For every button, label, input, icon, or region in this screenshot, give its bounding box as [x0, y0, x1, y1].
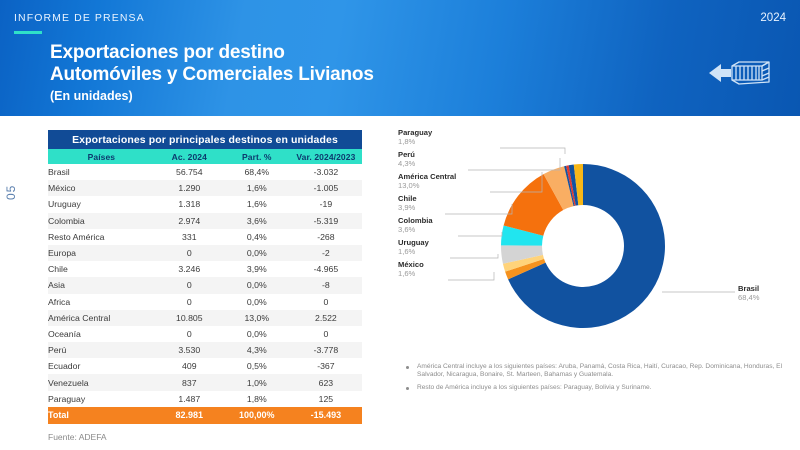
cell-country: Brasil [48, 164, 155, 180]
cell-var: -1.005 [290, 180, 362, 196]
table-row: Colombia2.9743,6%-5.319 [48, 213, 362, 229]
table-row: Ecuador4090,5%-367 [48, 358, 362, 374]
cell-part-pct: 0,0% [224, 294, 290, 310]
cell-country: Europa [48, 245, 155, 261]
cell-country: Paraguay [48, 391, 155, 407]
cell-ac-2024: 0 [155, 326, 224, 342]
cell-ac-2024: 0 [155, 277, 224, 293]
leader-line [458, 232, 502, 236]
column-header-ac-2024: Ac. 2024 [155, 149, 224, 164]
table-title-row: Exportaciones por principales destinos e… [48, 130, 362, 149]
footnote-item: Resto de América incluye a los siguiente… [404, 384, 794, 392]
cell-ac-2024: 1.318 [155, 196, 224, 212]
leader-line [450, 254, 498, 258]
cell-country: Africa [48, 294, 155, 310]
leader-line [448, 272, 494, 280]
chart-label-percent: 3,6% [398, 225, 433, 234]
chart-label-percent: 1,6% [398, 269, 424, 278]
cell-ac-2024: 331 [155, 229, 224, 245]
cell-part-pct: 1,6% [224, 180, 290, 196]
page-number: 05 [4, 185, 18, 200]
chart-footnotes: América Central incluye a los siguientes… [404, 363, 794, 396]
total-label: Total [48, 407, 155, 424]
table-row: Brasil56.75468,4%-3.032 [48, 164, 362, 180]
footnote-text: América Central incluye a los siguientes… [417, 363, 794, 380]
table-row: Asia00,0%-8 [48, 277, 362, 293]
cell-part-pct: 1,8% [224, 391, 290, 407]
cell-part-pct: 0,4% [224, 229, 290, 245]
cell-var: -3.778 [290, 342, 362, 358]
cell-country: México [48, 180, 155, 196]
donut-chart-svg [390, 132, 800, 362]
cell-ac-2024: 3.246 [155, 261, 224, 277]
cell-var: -2 [290, 245, 362, 261]
table-row: Africa00,0%0 [48, 294, 362, 310]
title-line-1: Exportaciones por destino [50, 42, 374, 64]
cell-var: -5.319 [290, 213, 362, 229]
cell-part-pct: 0,5% [224, 358, 290, 374]
cell-ac-2024: 0 [155, 245, 224, 261]
column-header-var: Var. 2024/2023 [290, 149, 362, 164]
cell-var: -4.965 [290, 261, 362, 277]
chart-label-name: Paraguay [398, 128, 432, 137]
cell-part-pct: 13,0% [224, 310, 290, 326]
cell-ac-2024: 1.290 [155, 180, 224, 196]
table-total-row: Total 82.981 100,00% -15.493 [48, 407, 362, 424]
cell-var: -19 [290, 196, 362, 212]
footnote-item: América Central incluye a los siguientes… [404, 363, 794, 380]
cell-ac-2024: 837 [155, 374, 224, 390]
cell-ac-2024: 409 [155, 358, 224, 374]
cell-country: Colombia [48, 213, 155, 229]
cell-part-pct: 4,3% [224, 342, 290, 358]
report-year: 2024 [760, 12, 786, 24]
cell-var: -367 [290, 358, 362, 374]
cell-var: -8 [290, 277, 362, 293]
chart-label-name: Chile [398, 194, 417, 203]
table-body: Brasil56.75468,4%-3.032México1.2901,6%-1… [48, 164, 362, 407]
cell-ac-2024: 2.974 [155, 213, 224, 229]
table-row: Uruguay1.3181,6%-19 [48, 196, 362, 212]
cell-ac-2024: 1.487 [155, 391, 224, 407]
title-subtitle: (En unidades) [50, 89, 374, 103]
cell-country: Chile [48, 261, 155, 277]
chart-label-américa-central: América Central13,0% [398, 172, 456, 190]
exports-donut-chart: Paraguay1,8%Perú4,3%América Central13,0%… [390, 132, 800, 362]
cell-var: 623 [290, 374, 362, 390]
leader-line [500, 148, 565, 154]
chart-label-name: América Central [398, 172, 456, 181]
cell-part-pct: 1,6% [224, 196, 290, 212]
chart-label-percent: 13,0% [398, 181, 456, 190]
cell-var: 2.522 [290, 310, 362, 326]
footnote-text: Resto de América incluye a los siguiente… [417, 384, 794, 392]
leader-line [468, 158, 560, 170]
table-row: México1.2901,6%-1.005 [48, 180, 362, 196]
cell-part-pct: 3,9% [224, 261, 290, 277]
cell-var: 0 [290, 326, 362, 342]
chart-label-percent: 68,4% [738, 293, 760, 302]
chart-label-colombia: Colombia3,6% [398, 216, 433, 234]
cell-country: Asia [48, 277, 155, 293]
cell-country: Venezuela [48, 374, 155, 390]
chart-label-name: Brasil [738, 284, 760, 293]
leader-line [445, 204, 512, 214]
table-row: Paraguay1.4871,8%125 [48, 391, 362, 407]
cell-part-pct: 0,0% [224, 326, 290, 342]
table-source: Fuente: ADEFA [48, 432, 107, 442]
table-row: Europa00,0%-2 [48, 245, 362, 261]
table-row: Venezuela8371,0%623 [48, 374, 362, 390]
exports-by-destination-table: Exportaciones por principales destinos e… [48, 130, 362, 424]
page-title: Exportaciones por destino Automóviles y … [50, 42, 374, 103]
chart-label-chile: Chile3,9% [398, 194, 417, 212]
cell-var: -268 [290, 229, 362, 245]
cell-country: América Central [48, 310, 155, 326]
table-column-header-row: Países Ac. 2024 Part. % Var. 2024/2023 [48, 149, 362, 164]
chart-label-name: Colombia [398, 216, 433, 225]
column-header-part-pct: Part. % [224, 149, 290, 164]
chart-label-percent: 3,9% [398, 203, 417, 212]
cell-country: Oceanía [48, 326, 155, 342]
report-kicker: INFORME DE PRENSA [14, 12, 145, 24]
donut-slices [501, 164, 665, 328]
cell-ac-2024: 56.754 [155, 164, 224, 180]
kicker-underline [14, 31, 42, 34]
chart-label-percent: 4,3% [398, 159, 415, 168]
cell-country: Ecuador [48, 358, 155, 374]
cell-ac-2024: 0 [155, 294, 224, 310]
table-row: Perú3.5304,3%-3.778 [48, 342, 362, 358]
cell-var: 125 [290, 391, 362, 407]
chart-label-percent: 1,6% [398, 247, 429, 256]
bullet-icon [406, 387, 409, 390]
chart-label-name: Uruguay [398, 238, 429, 247]
cell-part-pct: 68,4% [224, 164, 290, 180]
total-part: 100,00% [224, 407, 290, 424]
cell-part-pct: 1,0% [224, 374, 290, 390]
chart-label-name: Perú [398, 150, 415, 159]
chart-label-perú: Perú4,3% [398, 150, 415, 168]
table-title: Exportaciones por principales destinos e… [48, 130, 362, 149]
bullet-icon [406, 366, 409, 369]
chart-label-brasil: Brasil68,4% [738, 284, 760, 302]
cell-part-pct: 3,6% [224, 213, 290, 229]
chart-label-paraguay: Paraguay1,8% [398, 128, 432, 146]
exports-table-container: Exportaciones por principales destinos e… [48, 130, 362, 424]
cell-country: Perú [48, 342, 155, 358]
cell-country: Uruguay [48, 196, 155, 212]
table-row: Oceanía00,0%0 [48, 326, 362, 342]
chart-label-uruguay: Uruguay1,6% [398, 238, 429, 256]
chart-label-méxico: México1,6% [398, 260, 424, 278]
cell-var: 0 [290, 294, 362, 310]
total-var: -15.493 [290, 407, 362, 424]
chart-label-percent: 1,8% [398, 137, 432, 146]
cell-ac-2024: 10.805 [155, 310, 224, 326]
page-header: INFORME DE PRENSA 2024 Exportaciones por… [0, 0, 800, 116]
cell-ac-2024: 3.530 [155, 342, 224, 358]
cell-var: -3.032 [290, 164, 362, 180]
shipping-container-export-icon [708, 58, 770, 93]
table-row: Resto América3310,4%-268 [48, 229, 362, 245]
cell-part-pct: 0,0% [224, 277, 290, 293]
table-row: América Central10.80513,0%2.522 [48, 310, 362, 326]
chart-label-name: México [398, 260, 424, 269]
column-header-paises: Países [48, 149, 155, 164]
cell-country: Resto América [48, 229, 155, 245]
title-line-2: Automóviles y Comerciales Livianos [50, 64, 374, 86]
total-ac: 82.981 [155, 407, 224, 424]
cell-part-pct: 0,0% [224, 245, 290, 261]
table-row: Chile3.2463,9%-4.965 [48, 261, 362, 277]
